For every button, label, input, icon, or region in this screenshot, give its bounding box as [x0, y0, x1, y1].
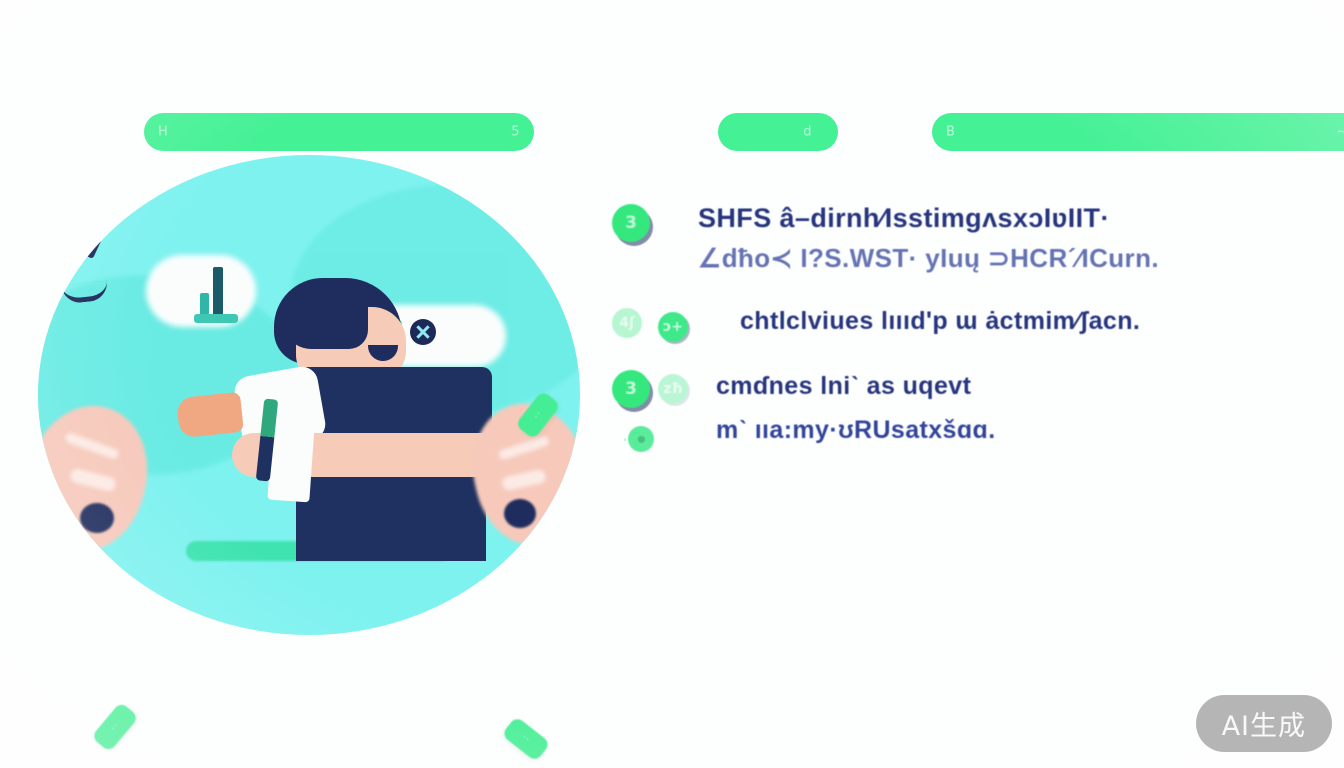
list-item-text: SHFS â–dirnh∕IsstimgʌsxɔIʋIIT· ∠dħo≺ I?S…: [698, 198, 1312, 278]
hair-front: [282, 285, 368, 349]
top-bar-left-glyph: H: [158, 125, 168, 140]
list-item-badge: 4ʃ: [612, 308, 642, 338]
ai-generated-watermark: AI生成: [1196, 695, 1332, 752]
top-bar-right-glyph: 5: [511, 125, 520, 140]
illustration-circle: [38, 155, 580, 635]
list-item-badge-secondary: zħ: [658, 374, 688, 404]
top-bar-left[interactable]: H 5: [144, 113, 534, 151]
orbit-badge-lower-right[interactable]: ··: [501, 716, 550, 762]
thumb-nail-right: [504, 499, 536, 528]
list-item-sub-badge: [628, 426, 654, 452]
list-item-line-2: mˋ ııa:my·ʊRUsatxšɑɑ.: [716, 408, 1312, 452]
illustration: ·· ·· ··: [38, 155, 580, 635]
list-item-text: cmɗnes lniˋ as uqevt mˋ ııa:my·ʊRUsatxšɑ…: [716, 364, 1312, 452]
list-item-text: chtlclviues lıııd'p ɯ ȧctmim∕ʃacn.: [740, 302, 1312, 340]
laptop-shape: [296, 471, 486, 561]
page-canvas: H 5 d B ~: [0, 0, 1344, 768]
orbit-badge-label: ··: [501, 716, 550, 762]
list-item[interactable]: 3 zħ ·? cmɗnes lniˋ as uqevt mˋ ııa:my·ʊ…: [612, 364, 1312, 452]
orbit-badge-lower-left[interactable]: ··: [91, 702, 139, 753]
person-figure: [38, 155, 580, 635]
list-item-line-1: chtlclviues lıııd'p ɯ ȧctmim∕ʃacn.: [740, 302, 1312, 340]
hand-shape: [176, 392, 244, 438]
list-item-badge: 3: [612, 370, 650, 408]
list-item[interactable]: 4ʃ ɔ+ chtlclviues lıııd'p ɯ ȧctmim∕ʃacn.: [612, 302, 1312, 340]
list-item-line-2: ∠dħo≺ I?S.WST· yIuų ⊃HCR´∕ICurn.: [698, 238, 1312, 278]
top-bar-middle-glyph: d: [803, 125, 812, 140]
thumb-nail-left: [80, 503, 114, 533]
top-bar-right-left-glyph: B: [946, 125, 955, 140]
top-bar-right-right-glyph: ~: [1337, 125, 1344, 140]
list-item-badge: 3: [612, 204, 650, 242]
list-item-badge-secondary: ɔ+: [658, 312, 688, 342]
orbit-badge-label: ··: [91, 702, 139, 753]
list-item-line-1: cmɗnes lniˋ as uqevt: [716, 364, 1312, 408]
content-list: 3 SHFS â–dirnh∕IsstimgʌsxɔIʋIIT· ∠dħo≺ I…: [612, 198, 1312, 476]
top-bar-middle[interactable]: d: [718, 113, 838, 151]
top-bar-right[interactable]: B ~: [932, 113, 1344, 151]
list-item[interactable]: 3 SHFS â–dirnh∕IsstimgʌsxɔIʋIIT· ∠dħo≺ I…: [612, 198, 1312, 278]
list-item-line-1: SHFS â–dirnh∕IsstimgʌsxɔIʋIIT·: [698, 198, 1312, 238]
